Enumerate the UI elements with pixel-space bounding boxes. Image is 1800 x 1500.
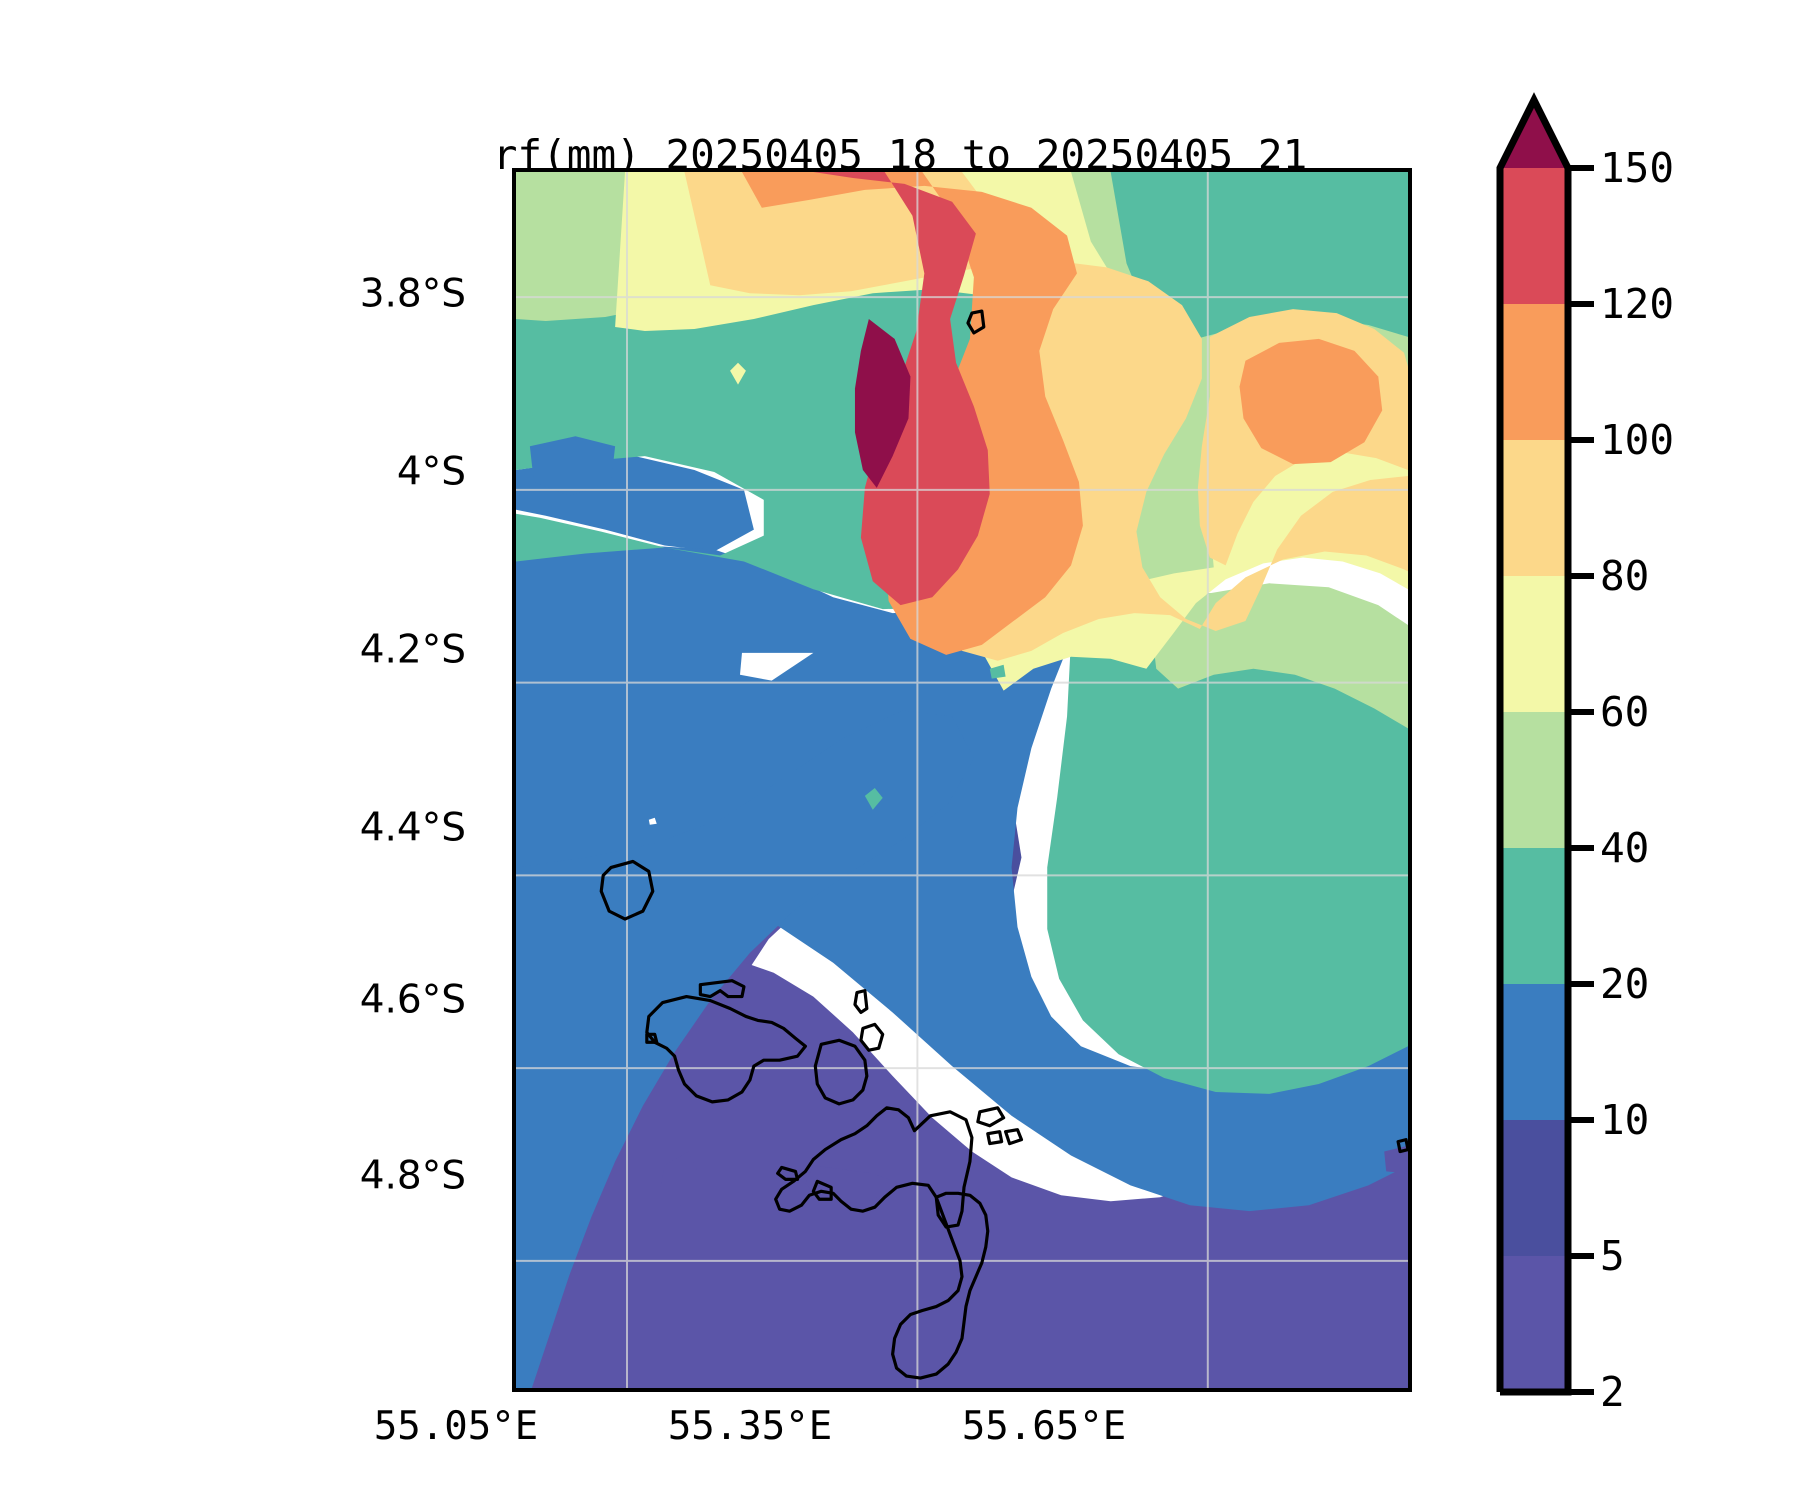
cbar-label-150: 150 <box>1600 144 1674 192</box>
cbar-label-5: 5 <box>1600 1232 1625 1280</box>
cbar-label-80: 80 <box>1600 552 1649 600</box>
ytick-label-4S: 4°S <box>397 450 466 495</box>
cbar-label-2: 2 <box>1600 1368 1625 1416</box>
cbar-label-20: 20 <box>1600 960 1649 1008</box>
cbar-seg-100-120 <box>1500 304 1568 440</box>
cbar-seg-5-10 <box>1500 1120 1568 1256</box>
contour-map <box>516 172 1408 1388</box>
xtick-label-55-65E: 55.65°E <box>962 1404 1126 1449</box>
cbar-seg-40-60 <box>1500 712 1568 848</box>
cbar-seg-20-40 <box>1500 848 1568 984</box>
cbar-seg-2-5 <box>1500 1256 1568 1392</box>
cbar-seg-120-150 <box>1500 168 1568 304</box>
cbar-seg-80-100 <box>1500 440 1568 576</box>
ytick-label-3-8S: 3.8°S <box>360 272 466 317</box>
map-plot-area[interactable] <box>512 168 1412 1392</box>
cbar-label-40: 40 <box>1600 824 1649 872</box>
cbar-seg-10-20 <box>1500 984 1568 1120</box>
cbar-label-120: 120 <box>1600 280 1674 328</box>
colorbar-gradient <box>1500 168 1568 1392</box>
cbar-label-10: 10 <box>1600 1096 1649 1144</box>
cbar-seg-60-80 <box>1500 576 1568 712</box>
colorbar-segments <box>1500 168 1568 1392</box>
ytick-label-4-4S: 4.4°S <box>360 806 466 851</box>
xtick-label-55-05E: 55.05°E <box>374 1404 538 1449</box>
xtick-label-55-35E: 55.35°E <box>668 1404 832 1449</box>
cbar-label-100: 100 <box>1600 416 1674 464</box>
colorbar[interactable] <box>1500 168 1568 1392</box>
ytick-label-4-6S: 4.6°S <box>360 978 466 1023</box>
cbar-label-60: 60 <box>1600 688 1649 736</box>
ytick-label-4-8S: 4.8°S <box>360 1154 466 1199</box>
figure-canvas: rf(mm) 20250405_18 to 20250405_21 Simula… <box>0 0 1800 1500</box>
ytick-label-4-2S: 4.2°S <box>360 628 466 673</box>
